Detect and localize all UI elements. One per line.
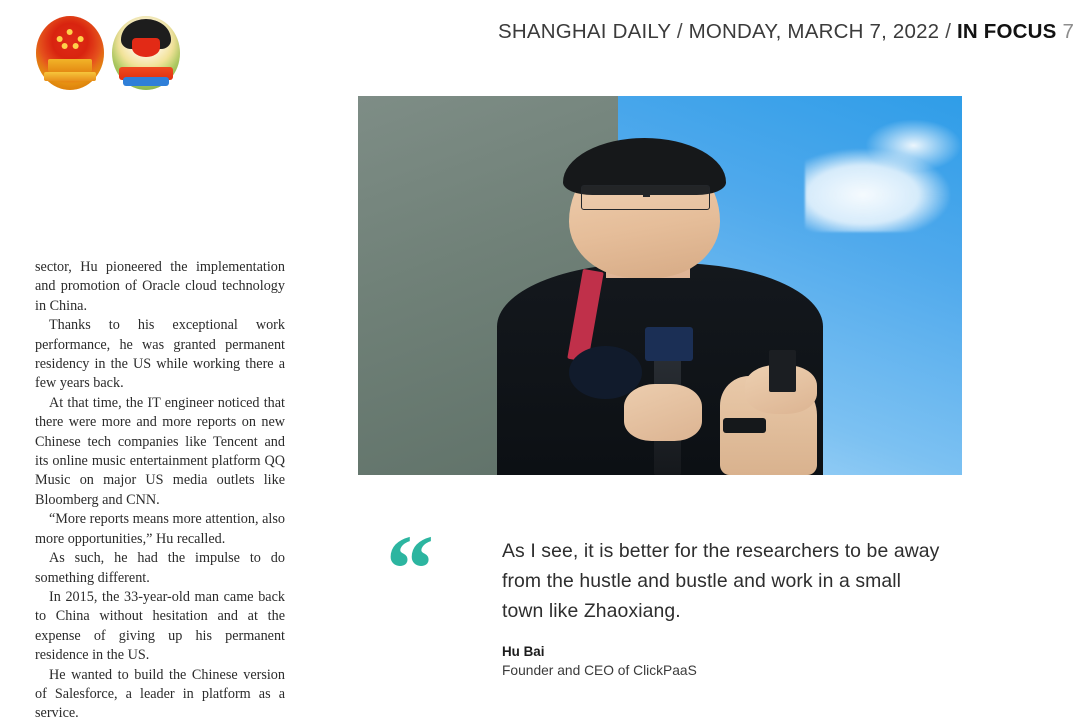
- quotation-mark-icon: “: [386, 538, 430, 600]
- national-emblem-of-china-icon: [36, 16, 104, 90]
- publication-name: SHANGHAI DAILY: [498, 20, 671, 43]
- pull-quote: “ As I see, it is better for the researc…: [386, 536, 946, 680]
- section-name: IN FOCUS: [957, 20, 1057, 43]
- header-separator-2: /: [939, 20, 957, 43]
- attribution-name: Hu Bai: [502, 643, 946, 661]
- masthead-emblems: [36, 16, 180, 90]
- photo-hand-holding-microphone: [624, 384, 703, 441]
- newspaper-page: SHANGHAI DAILY / MONDAY, MARCH 7, 2022 /…: [0, 0, 1079, 717]
- article-paragraph: In 2015, the 33-year-old man came back t…: [35, 588, 285, 666]
- article-text-column: sector, Hu pioneered the implementation …: [35, 258, 285, 717]
- issue-date: MONDAY, MARCH 7, 2022: [689, 20, 940, 43]
- page-number: 7: [1062, 20, 1074, 43]
- attribution-role: Founder and CEO of ClickPaaS: [502, 661, 946, 680]
- photo-wristwatch: [723, 418, 765, 433]
- photo-microphone-head: [645, 327, 693, 361]
- page-header: SHANGHAI DAILY / MONDAY, MARCH 7, 2022 /…: [498, 20, 1046, 44]
- emblem-stars: [52, 29, 89, 51]
- pull-quote-body: As I see, it is better for the researche…: [502, 536, 946, 680]
- photo-clicker: [769, 350, 796, 392]
- article-paragraph: “More reports means more attention, also…: [35, 510, 285, 549]
- cppcc-emblem-icon: [112, 16, 180, 90]
- pull-quote-text: As I see, it is better for the researche…: [502, 536, 946, 626]
- pull-quote-attribution: Hu Bai Founder and CEO of ClickPaaS: [502, 643, 946, 680]
- article-paragraph: Thanks to his exceptional work performan…: [35, 316, 285, 394]
- emblem-gate: [48, 59, 92, 72]
- photo-cloud: [805, 149, 950, 232]
- header-separator-1: /: [671, 20, 689, 43]
- article-paragraph: At that time, the IT engineer noticed th…: [35, 394, 285, 510]
- emblem-flag: [132, 38, 159, 57]
- article-paragraph: He wanted to build the Chinese version o…: [35, 666, 285, 717]
- article-paragraph: sector, Hu pioneered the implementation …: [35, 258, 285, 316]
- article-paragraph: As such, he had the impulse to do someth…: [35, 549, 285, 588]
- speaker-photo: [358, 96, 962, 475]
- emblem-ribbon-blue: [123, 77, 169, 85]
- photo-glasses: [581, 185, 710, 210]
- emblem-base: [44, 72, 96, 81]
